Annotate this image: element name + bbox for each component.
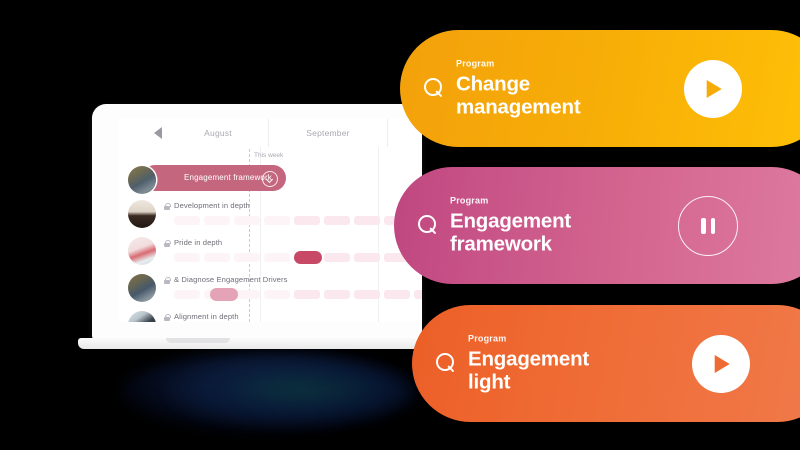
card-kicker: Program: [456, 58, 580, 68]
engagement-framework-pill[interactable]: Engagement framework: [142, 165, 286, 191]
avatar: [128, 274, 156, 302]
month-label-september: September: [268, 119, 387, 147]
play-icon: [715, 355, 730, 373]
scene: August September October This week Engag…: [0, 0, 800, 450]
laptop-device: August September October This week Engag…: [92, 104, 422, 340]
card-kicker: Program: [468, 333, 589, 343]
program-card-change-management[interactable]: Program Change management: [400, 30, 800, 147]
card-title-line2: framework: [450, 233, 571, 256]
timeline-row-highlighted[interactable]: Engagement framework: [118, 163, 422, 197]
timeline-active-block[interactable]: [294, 251, 322, 264]
this-week-label: This week: [254, 152, 283, 159]
row-label: Development in depth: [174, 201, 250, 210]
timeline-rows: Engagement framework Development in dept…: [118, 163, 422, 322]
card-title-line1: Change: [456, 72, 580, 95]
laptop-shadow-glow-inner: [170, 362, 410, 424]
search-icon: [436, 353, 458, 375]
lock-icon: [164, 240, 170, 247]
avatar: [128, 237, 156, 265]
timeline-row[interactable]: Pride in depth: [118, 234, 422, 271]
lock-icon: [164, 314, 170, 321]
program-card-engagement-framework[interactable]: Program Engagement framework: [394, 167, 800, 284]
play-button[interactable]: [684, 60, 742, 118]
row-label: Pride in depth: [174, 238, 222, 247]
timeline-soft-block[interactable]: [210, 288, 238, 301]
chevron-down-icon[interactable]: [262, 171, 278, 187]
timeline-row[interactable]: & Diagnose Engagement Drivers: [118, 271, 422, 308]
avatar: [128, 311, 156, 322]
avatar: [128, 200, 156, 228]
row-label: & Diagnose Engagement Drivers: [174, 275, 288, 284]
card-title-line1: Engagement: [450, 209, 571, 232]
pause-icon: [701, 218, 715, 234]
play-button[interactable]: [692, 335, 750, 393]
lock-icon: [164, 277, 170, 284]
month-label-august: August: [168, 128, 268, 138]
row-label: Alignment in depth: [174, 312, 239, 321]
pause-button[interactable]: [678, 196, 738, 256]
timeline-row[interactable]: Alignment in depth: [118, 308, 422, 322]
card-title-line1: Engagement: [468, 347, 589, 370]
program-card-engagement-light[interactable]: Program Engagement light: [412, 305, 800, 422]
timeline-row[interactable]: Development in depth: [118, 197, 422, 234]
card-text: Program Engagement framework: [450, 195, 571, 256]
left-triangle-icon[interactable]: [154, 127, 162, 139]
timeline-month-header: August September October: [118, 119, 422, 147]
avatar: [128, 166, 156, 194]
card-kicker: Program: [450, 195, 571, 205]
row-title: Engagement framework: [184, 173, 272, 182]
card-text: Program Change management: [456, 58, 580, 119]
search-icon: [424, 78, 446, 100]
laptop-base: [78, 338, 434, 349]
card-title-line2: light: [468, 371, 589, 394]
timeline-track: [174, 216, 422, 225]
search-icon: [418, 215, 440, 237]
card-title-line2: management: [456, 96, 580, 119]
lock-icon: [164, 203, 170, 210]
card-text: Program Engagement light: [468, 333, 589, 394]
laptop-screen: August September October This week Engag…: [118, 119, 422, 322]
laptop-base-notch: [166, 338, 230, 343]
play-icon: [707, 80, 722, 98]
